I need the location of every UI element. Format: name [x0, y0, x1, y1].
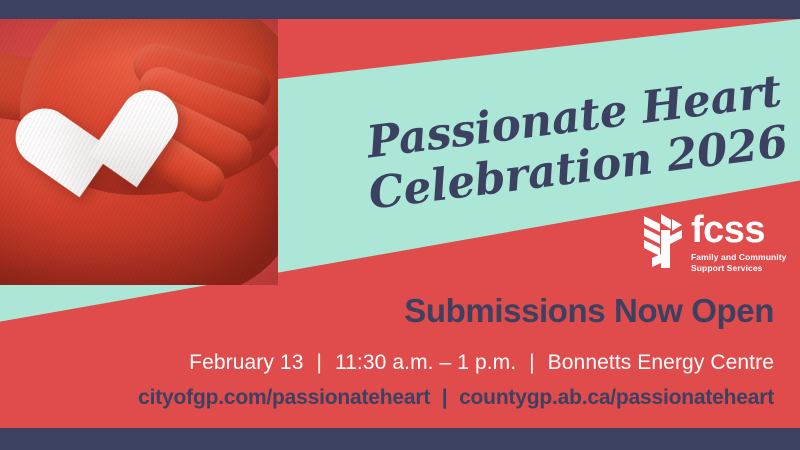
hands-holding-heart-photo: [0, 19, 278, 285]
fcss-tagline: Family and Community Support Services: [691, 252, 787, 273]
event-venue: Bonnetts Energy Centre: [548, 351, 774, 374]
event-time: 11:30 a.m. – 1 p.m.: [335, 351, 516, 374]
white-heart-icon: [37, 88, 164, 215]
fcss-logo: fcss Family and Community Support Servic…: [644, 214, 787, 274]
headline-submissions-now-open: Submissions Now Open: [300, 294, 774, 327]
event-date: February 13: [189, 351, 303, 374]
fcss-logo-text: fcss Family and Community Support Servic…: [691, 214, 787, 274]
fcss-abstract-people-mark: [644, 214, 682, 268]
details-separator-2: |: [522, 351, 542, 374]
links-separator: |: [436, 386, 454, 409]
bottom-navy-bar: [0, 428, 800, 450]
county-website-link[interactable]: countygp.ab.ca/passionateheart: [459, 386, 774, 409]
fcss-wordmark: fcss: [691, 215, 787, 245]
website-links: cityofgp.com/passionateheart | countygp.…: [26, 387, 774, 408]
details-separator-1: |: [309, 351, 329, 374]
promo-poster: Passionate Heart Celebration 2026 fcss F…: [0, 0, 800, 450]
city-website-link[interactable]: cityofgp.com/passionateheart: [138, 386, 430, 409]
fcss-tagline-line-1: Family and Community: [691, 252, 787, 263]
event-details: February 13 | 11:30 a.m. – 1 p.m. | Bonn…: [100, 352, 774, 373]
top-navy-bar: [0, 0, 800, 19]
fcss-tagline-line-2: Support Services: [691, 263, 787, 274]
